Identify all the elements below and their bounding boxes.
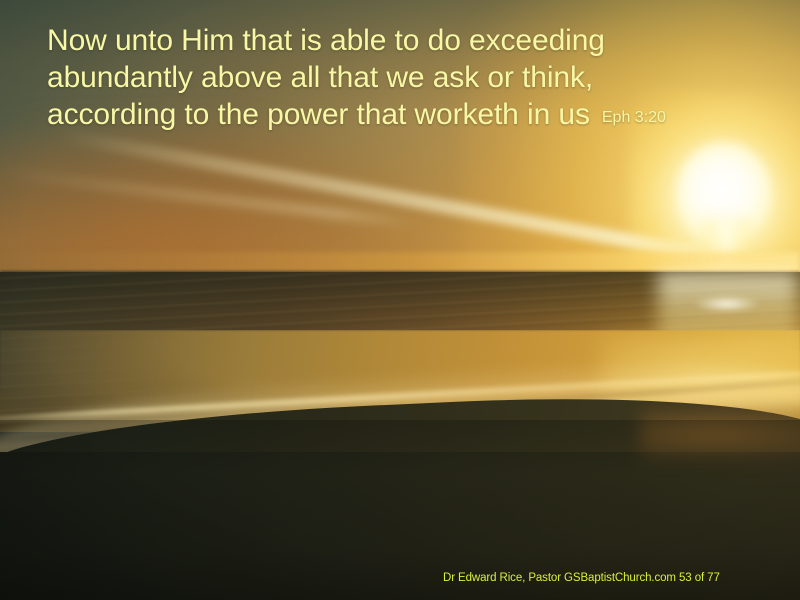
footer-credit: Dr Edward Rice, Pastor GSBaptistChurch.c… — [443, 571, 720, 585]
verse-line-1: Now unto Him that is able to do exceedin… — [47, 22, 767, 59]
verse-line-2: abundantly above all that we ask or thin… — [47, 59, 767, 96]
scripture-verse-text: Now unto Him that is able to do exceedin… — [47, 22, 767, 133]
photo-watermark: The Beach by Rebekah Rice May 2015 — [0, 571, 8, 585]
verse-line-3: according to the power that worketh in u… — [47, 98, 590, 131]
presentation-slide: Now unto Him that is able to do exceedin… — [0, 0, 800, 600]
verse-line-3-group: according to the power that worketh in u… — [47, 96, 767, 133]
scripture-reference: Eph 3:20 — [602, 109, 666, 126]
glitter-highlight — [694, 296, 760, 312]
